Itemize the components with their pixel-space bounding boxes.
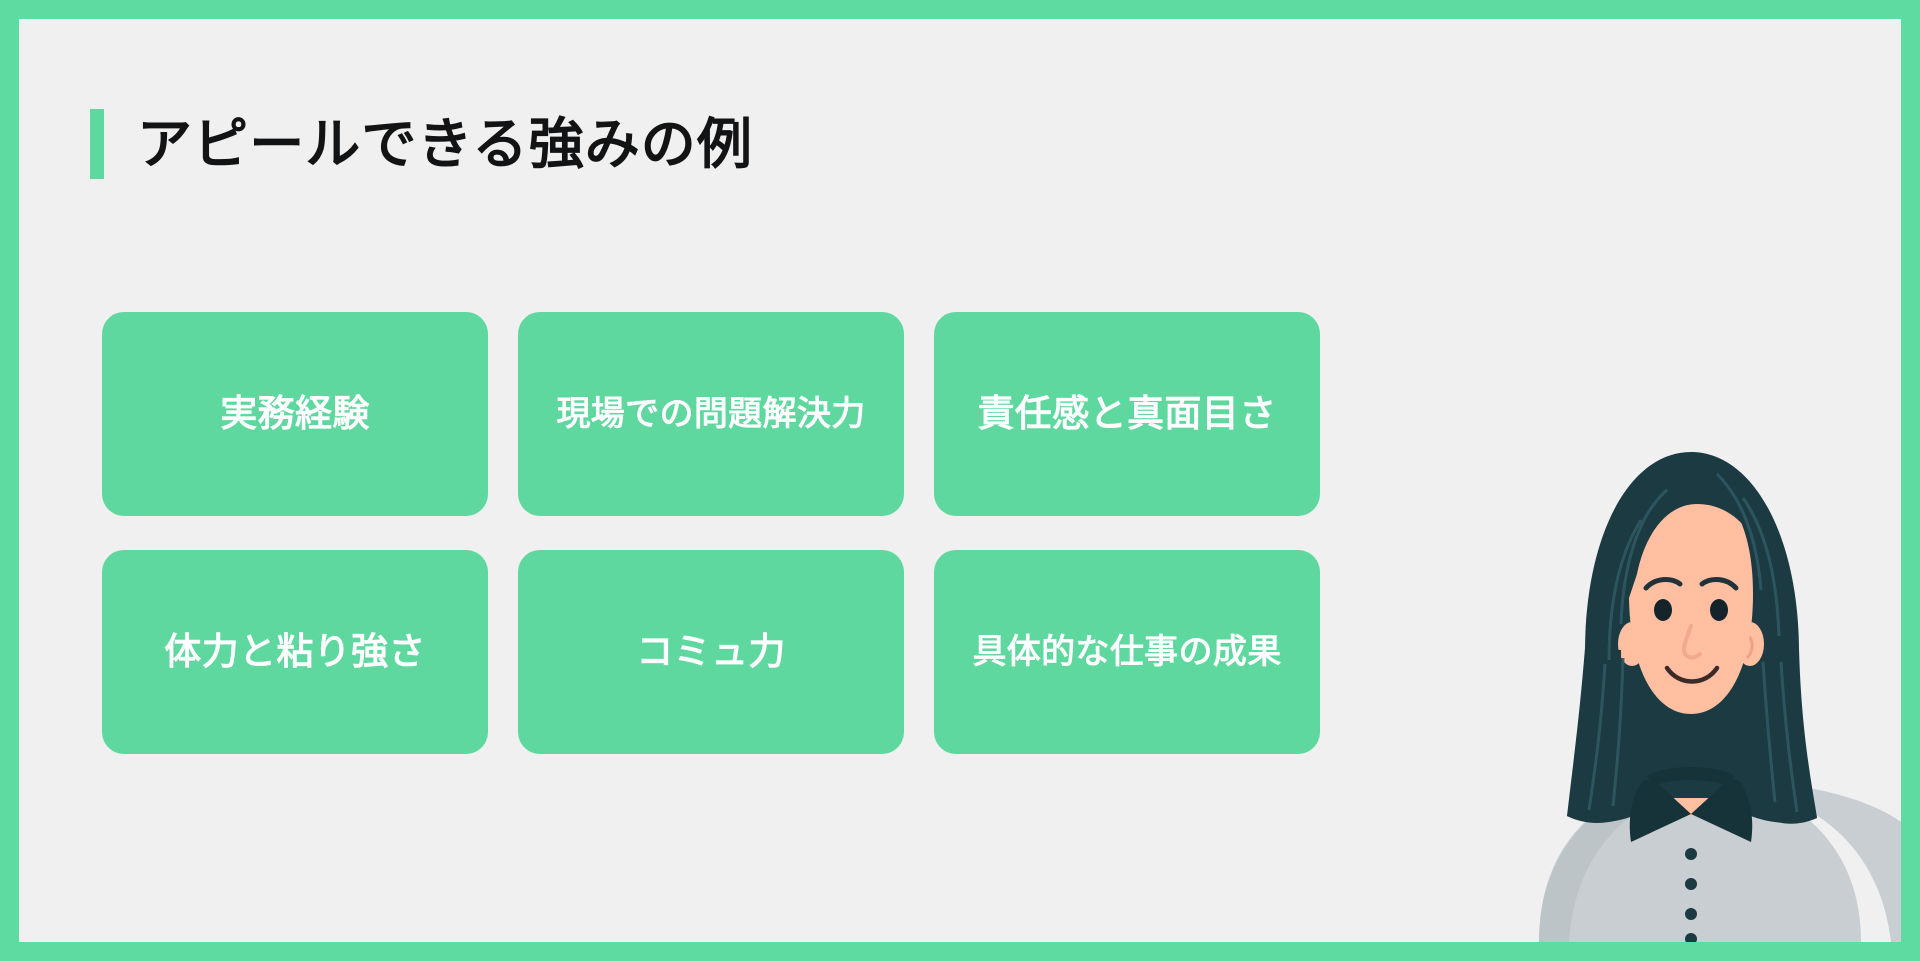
nose xyxy=(1684,626,1700,657)
slide-frame: アピールできる強みの例 実務経験 現場での問題解決力 責任感と真面目さ 体力と粘… xyxy=(0,0,1920,961)
strength-card-label: 現場での問題解決力 xyxy=(556,394,865,435)
hair-back xyxy=(1567,452,1817,823)
strength-card-label: 実務経験 xyxy=(220,392,369,436)
shirt-shadow xyxy=(1539,794,1651,942)
shirt-body xyxy=(1539,786,1861,942)
face xyxy=(1629,482,1753,714)
page-title: アピールできる強みの例 xyxy=(90,100,753,188)
ear-inner-right xyxy=(1745,634,1752,658)
eyebrow-left xyxy=(1646,579,1680,588)
strength-card-4[interactable]: 体力と粘り強さ xyxy=(102,550,488,754)
eyebrow-right xyxy=(1702,579,1736,588)
title-accent-bar xyxy=(90,109,104,179)
strength-card-3[interactable]: 責任感と真面目さ xyxy=(934,312,1320,516)
ear-right xyxy=(1736,622,1764,666)
shirt-buttons xyxy=(1685,848,1697,942)
slide-canvas: アピールできる強みの例 実務経験 現場での問題解決力 責任感と真面目さ 体力と粘… xyxy=(19,19,1901,942)
strength-card-label: 体力と粘り強さ xyxy=(164,630,426,674)
title-label: アピールできる強みの例 xyxy=(137,117,753,172)
strength-card-label: 責任感と真面目さ xyxy=(978,392,1277,436)
eye-right xyxy=(1710,599,1728,621)
neck xyxy=(1654,712,1728,816)
collar-left xyxy=(1630,780,1691,842)
hair-strand-left xyxy=(1567,648,1639,823)
eye-left xyxy=(1654,599,1672,621)
strength-card-6[interactable]: 具体的な仕事の成果 xyxy=(934,550,1320,754)
ear-left xyxy=(1618,622,1646,666)
neck-shadow xyxy=(1654,712,1728,758)
strength-card-5[interactable]: コミュ力 xyxy=(518,550,904,754)
hair-front-fringe xyxy=(1629,466,1765,598)
strength-card-grid: 実務経験 現場での問題解決力 責任感と真面目さ 体力と粘り強さ コミュ力 具体的… xyxy=(102,312,1320,754)
strength-card-label: コミュ力 xyxy=(636,630,785,674)
collar-right xyxy=(1691,780,1752,842)
mouth-smile xyxy=(1667,668,1717,682)
smiling-woman-illustration xyxy=(1481,412,1901,942)
shirt-right-shoulder xyxy=(1781,786,1901,942)
strength-card-1[interactable]: 実務経験 xyxy=(102,312,488,516)
collar-back xyxy=(1647,767,1735,786)
hair-highlights xyxy=(1589,474,1797,812)
strength-card-2[interactable]: 現場での問題解決力 xyxy=(518,312,904,516)
strength-card-label: 具体的な仕事の成果 xyxy=(972,632,1281,673)
hair-strand-right xyxy=(1745,648,1817,824)
